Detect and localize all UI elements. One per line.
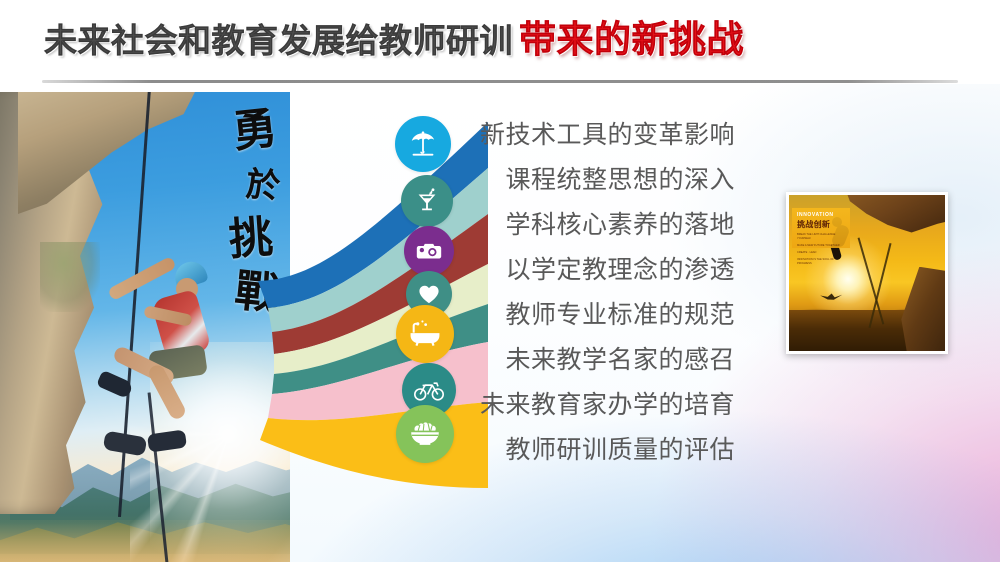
bullet-text-6: 未来教学名家的感召: [430, 337, 735, 382]
bullet-text-1: 新技术工具的变革影响: [430, 112, 735, 157]
card-label-en: INNOVATION: [797, 212, 846, 219]
bullet-text-list: 新技术工具的变革影响 课程统整思想的深入 学科核心素养的落地 以学定教理念的渗透…: [430, 112, 735, 472]
bullet-text-7: 未来教育家办学的培育: [430, 382, 735, 427]
slide-canvas: 未来社会和教育发展给教师研训带来的新挑战: [0, 0, 1000, 562]
card-sub-line-1: BREAK THE LIMIT CHALLENGE YOURSELF: [797, 233, 846, 241]
card-sub-line-3: CREATE · LEAD: [797, 251, 846, 255]
bullet-text-4: 以学定教理念的渗透: [430, 247, 735, 292]
bullet-text-8: 教师研训质量的评估: [430, 427, 735, 472]
bullet-text-3: 学科核心素养的落地: [430, 202, 735, 247]
card-sub-line-2: MAKE A NEW FUTURE TOGETHER: [797, 244, 846, 248]
innovation-climbing-card: INNOVATION 挑战创新 BREAK THE LIMIT CHALLENG…: [786, 192, 948, 354]
card-sub-line-4: INNOVATION IS THE SOUL OF PROGRESS: [797, 258, 846, 266]
bullet-text-2: 课程统整思想的深入: [430, 157, 735, 202]
card-label-cn: 挑战创新: [797, 219, 846, 230]
card-label-block: INNOVATION 挑战创新 BREAK THE LIMIT CHALLENG…: [792, 208, 850, 248]
bullet-text-5: 教师专业标准的规范: [430, 292, 735, 337]
